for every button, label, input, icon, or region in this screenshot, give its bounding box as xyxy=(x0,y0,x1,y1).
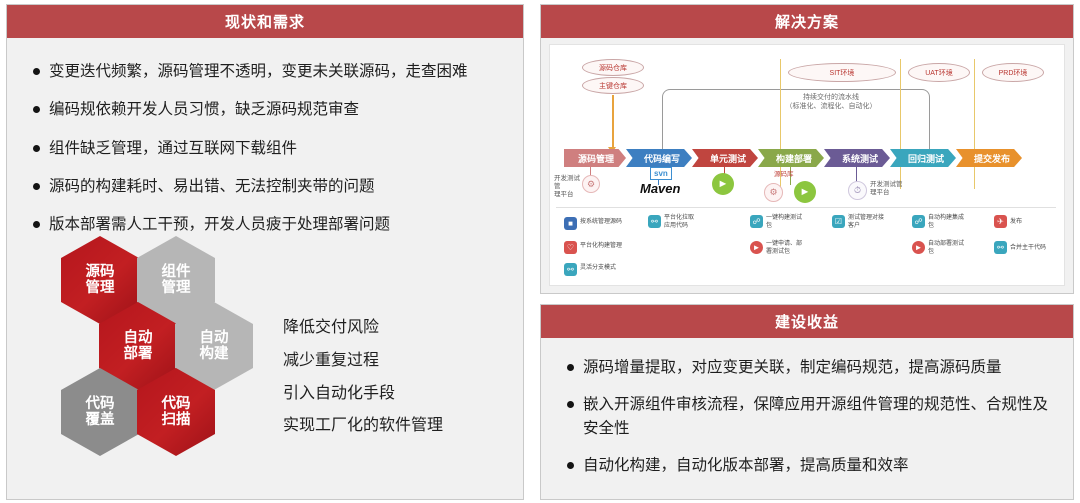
diagram-divider xyxy=(556,207,1056,208)
panel-solution-title: 解决方案 xyxy=(541,5,1073,38)
gauge-icon: ⏱ xyxy=(848,181,867,200)
stage-chip-regression-test: 回归测试 xyxy=(890,149,956,167)
capability-label: 按系统管理源码 xyxy=(580,219,644,227)
current-status-bullet-list: 变更迭代频繁，源码管理不透明，变更未关联源码，走查困难 编码规依赖开发人员习惯，… xyxy=(7,38,523,236)
bullet-text: 源码的构建耗时、易出错、无法控制夹带的问题 xyxy=(49,175,503,198)
capability-hexagon-cluster: 源码 管理 组件 管理 自动 部署 自动 构建 代码 覆盖 xyxy=(25,236,265,476)
hexagon-line-1: 自动 xyxy=(124,330,153,346)
gear-icon: ⚙ xyxy=(582,175,600,193)
benefit-bullet-list: 源码增量提取，对应变更关联，制定编码规范，提高源码质量 嵌入开源组件审核流程，保… xyxy=(541,338,1073,477)
stage-chip-code-writing: 代码编写 xyxy=(626,149,692,167)
stage-chip-release: 提交发布 xyxy=(956,149,1022,167)
list-item: 源码的构建耗时、易出错、无法控制夹带的问题 xyxy=(33,175,503,198)
svn-logo: svn xyxy=(650,167,672,180)
play-icon: ► xyxy=(750,241,763,254)
capability-label: 一键申请、部 署测试包 xyxy=(766,241,824,257)
pipeline-note: 持续交付的流水线 （标准化、流程化、自动化） xyxy=(756,93,906,111)
play-icon: ► xyxy=(912,241,925,254)
stage-chip-unit-test: 单元测试 xyxy=(692,149,758,167)
goal-phrase: 引入自动化手段 xyxy=(283,378,443,411)
heart-icon: ♡ xyxy=(564,241,577,254)
oval-build-repo: 主键仓库 xyxy=(582,77,644,94)
hexagon-line-2: 覆盖 xyxy=(86,412,115,428)
bullet-dot-icon xyxy=(33,221,40,228)
checklist-icon: ☑ xyxy=(832,215,845,228)
panel-current-status: 现状和需求 变更迭代频繁，源码管理不透明，变更未关联源码，走查困难 编码规依赖开… xyxy=(6,4,524,500)
tool-label-dev-test-platform-2: 开发测试管 理平台 xyxy=(870,181,904,197)
oval-prd-env: PRD环境 xyxy=(982,63,1044,82)
capability-label: 合并主干代码 xyxy=(1010,245,1062,253)
bullet-text: 组件缺乏管理，通过互联网下载组件 xyxy=(49,137,503,160)
capability-label: 发布 xyxy=(1010,219,1056,227)
hexagon-line-2: 扫描 xyxy=(162,412,191,428)
hexagon-line-1: 源码 xyxy=(86,264,115,280)
bullet-text: 编码规依赖开发人员习惯，缺乏源码规范审查 xyxy=(49,98,503,121)
bullet-text: 版本部署需人工干预，开发人员疲于处理部署问题 xyxy=(49,213,503,236)
hexagon-line-1: 自动 xyxy=(200,330,229,346)
panel-current-status-title: 现状和需求 xyxy=(7,5,523,38)
capability-label: 平台化构建管理 xyxy=(580,243,650,251)
list-item: 变更迭代频繁，源码管理不透明，变更未关联源码，走查困难 xyxy=(33,60,503,83)
bullet-dot-icon xyxy=(33,106,40,113)
goal-phrase: 实现工厂化的软件管理 xyxy=(283,410,443,443)
grid-icon: ■ xyxy=(564,217,577,230)
goal-phrase-list: 降低交付风险 减少重复过程 引入自动化手段 实现工厂化的软件管理 xyxy=(283,312,443,443)
arrow-repo-to-stage xyxy=(612,95,614,149)
play-icon: ► xyxy=(794,181,816,203)
list-item: 嵌入开源组件审核流程，保障应用开源组件管理的规范性、合规性及安全性 xyxy=(567,393,1053,440)
panel-benefit-body: 源码增量提取，对应变更关联，制定编码规范，提高源码质量 嵌入开源组件审核流程，保… xyxy=(541,338,1073,499)
capability-label: 测试管理对接 客户 xyxy=(848,215,906,231)
tool-label-dev-test-platform: 开发测试管 理平台 xyxy=(554,175,582,199)
goal-phrase: 降低交付风险 xyxy=(283,312,443,345)
hexagon-line-1: 组件 xyxy=(162,264,191,280)
capability-label: 灵活分支模式 xyxy=(580,265,644,273)
stage-chip-build-deploy: 构建部署 xyxy=(758,149,824,167)
send-icon: ✈ xyxy=(994,215,1007,228)
package-icon: ☍ xyxy=(750,215,763,228)
bullet-dot-icon xyxy=(567,401,574,408)
env-divider xyxy=(780,59,781,189)
bullet-dot-icon xyxy=(567,462,574,469)
branch-icon: ⚯ xyxy=(994,241,1007,254)
hexagon-line-2: 构建 xyxy=(200,346,229,362)
bullet-text: 变更迭代频繁，源码管理不透明，变更未关联源码，走查困难 xyxy=(49,60,503,83)
capability-label: 平台化拉取 应用代码 xyxy=(664,215,720,231)
bullet-dot-icon xyxy=(33,183,40,190)
branch-icon: ⚯ xyxy=(648,215,661,228)
list-item: 源码增量提取，对应变更关联，制定编码规范，提高源码质量 xyxy=(567,356,1053,379)
capability-label: 一键构建测试 包 xyxy=(766,215,826,231)
play-icon: ► xyxy=(712,173,734,195)
list-item: 编码规依赖开发人员习惯，缺乏源码规范审查 xyxy=(33,98,503,121)
panel-current-status-body: 变更迭代频繁，源码管理不透明，变更未关联源码，走查困难 编码规依赖开发人员习惯，… xyxy=(7,38,523,499)
bullet-dot-icon xyxy=(33,145,40,152)
stage-chip-source-management: 源码管理 xyxy=(564,149,626,167)
list-item: 组件缺乏管理，通过互联网下载组件 xyxy=(33,137,503,160)
branch-icon: ⚯ xyxy=(564,263,577,276)
cicd-pipeline-diagram: 源码仓库 主键仓库 SIT环境 UAT环境 PRD环境 持续交付的流水线 （标准… xyxy=(549,44,1065,286)
panel-solution-body: 源码仓库 主键仓库 SIT环境 UAT环境 PRD环境 持续交付的流水线 （标准… xyxy=(541,38,1073,293)
panel-benefit: 建设收益 源码增量提取，对应变更关联，制定编码规范，提高源码质量 嵌入开源组件审… xyxy=(540,304,1074,500)
gear-icon: ⚙ xyxy=(764,183,783,202)
bullet-dot-icon xyxy=(567,364,574,371)
oval-source-repo: 源码仓库 xyxy=(582,59,644,76)
list-item: 自动化构建，自动化版本部署，提高质量和效率 xyxy=(567,454,1053,477)
oval-uat-env: UAT环境 xyxy=(908,63,970,82)
bullet-text: 嵌入开源组件审核流程，保障应用开源组件管理的规范性、合规性及安全性 xyxy=(583,393,1053,440)
bullet-dot-icon xyxy=(33,68,40,75)
package-icon: ☍ xyxy=(912,215,925,228)
stage-chip-system-test: 系统测试 xyxy=(824,149,890,167)
oval-sit-env: SIT环境 xyxy=(788,63,896,82)
slide-canvas: 现状和需求 变更迭代频繁，源码管理不透明，变更未关联源码，走查困难 编码规依赖开… xyxy=(0,0,1080,503)
capability-label: 自动构建集成 包 xyxy=(928,215,986,231)
hexagon-line-1: 代码 xyxy=(162,396,191,412)
bullet-text: 源码增量提取，对应变更关联，制定编码规范，提高源码质量 xyxy=(583,356,1053,379)
goal-phrase: 减少重复过程 xyxy=(283,345,443,378)
env-divider xyxy=(900,59,901,189)
bullet-text: 自动化构建，自动化版本部署，提高质量和效率 xyxy=(583,454,1053,477)
env-divider xyxy=(974,59,975,189)
hexagon-line-2: 部署 xyxy=(124,346,153,362)
hexagon-line-2: 管理 xyxy=(86,280,115,296)
maven-logo: Maven xyxy=(640,181,680,196)
tool-label-source-library: 源码库 xyxy=(774,171,794,179)
panel-benefit-title: 建设收益 xyxy=(541,305,1073,338)
capability-label: 自动部署测试 包 xyxy=(928,241,986,257)
panel-solution: 解决方案 源码仓库 主键仓库 SIT环境 UAT环境 PRD环境 持续交付的流水… xyxy=(540,4,1074,294)
list-item: 版本部署需人工干预，开发人员疲于处理部署问题 xyxy=(33,213,503,236)
hexagon-line-1: 代码 xyxy=(86,396,115,412)
hexagon-line-2: 管理 xyxy=(162,280,191,296)
